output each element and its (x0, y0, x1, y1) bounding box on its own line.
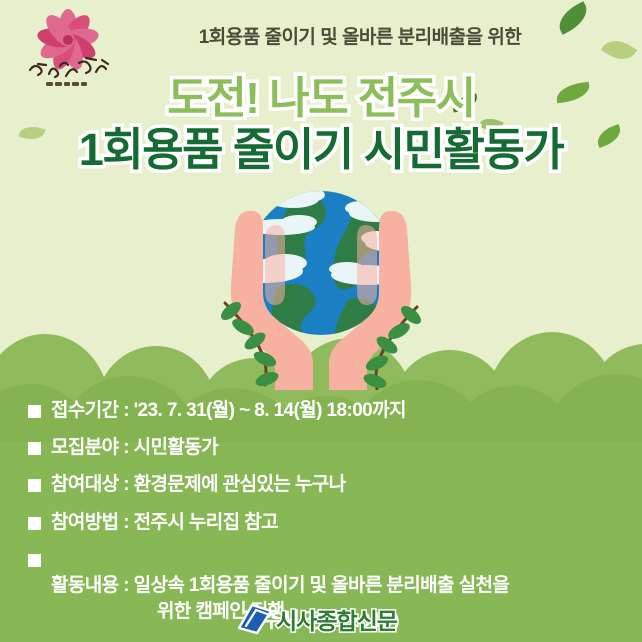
bullet-square-icon (28, 405, 41, 418)
list-item: 참여대상 : 환경문제에 관심있는 누구나 (28, 472, 628, 498)
hands-holding-earth-illustration (181, 175, 461, 390)
info-item-text: 접수기간 : '23. 7. 31(월) ~ 8. 14(월) 18:00까지 (51, 398, 406, 424)
bullet-square-icon (28, 554, 41, 567)
poster-root: 1회용품 줄이기 및 올바른 분리배출을 위한 도전! 나도 전주시 1회용품 … (0, 0, 642, 642)
bullet-square-icon (28, 442, 41, 455)
poster-title-line2: 1회용품 줄이기 시민활동가 (0, 113, 642, 178)
footer-text: 전주시 청소 2019) (0, 604, 642, 634)
poster-subtitle: 1회용품 줄이기 및 올바른 분리배출을 위한 (150, 22, 570, 49)
list-item: 모집분야 : 시민활동가 (28, 435, 628, 461)
list-item: 접수기간 : '23. 7. 31(월) ~ 8. 14(월) 18:00까지 (28, 398, 628, 424)
list-item: 참여방법 : 전주시 누리집 참고 (28, 510, 628, 536)
bullet-square-icon (28, 517, 41, 530)
info-item-text: 모집분야 : 시민활동가 (51, 435, 218, 461)
info-item-text-line1: 활동내용 : 일상속 1회용품 줄이기 및 올바른 분리배출 실천을 (51, 575, 509, 596)
info-item-text: 참여대상 : 환경문제에 관심있는 누구나 (51, 472, 346, 498)
bullet-square-icon (28, 479, 41, 492)
info-item-text: 참여방법 : 전주시 누리집 참고 (51, 510, 278, 536)
